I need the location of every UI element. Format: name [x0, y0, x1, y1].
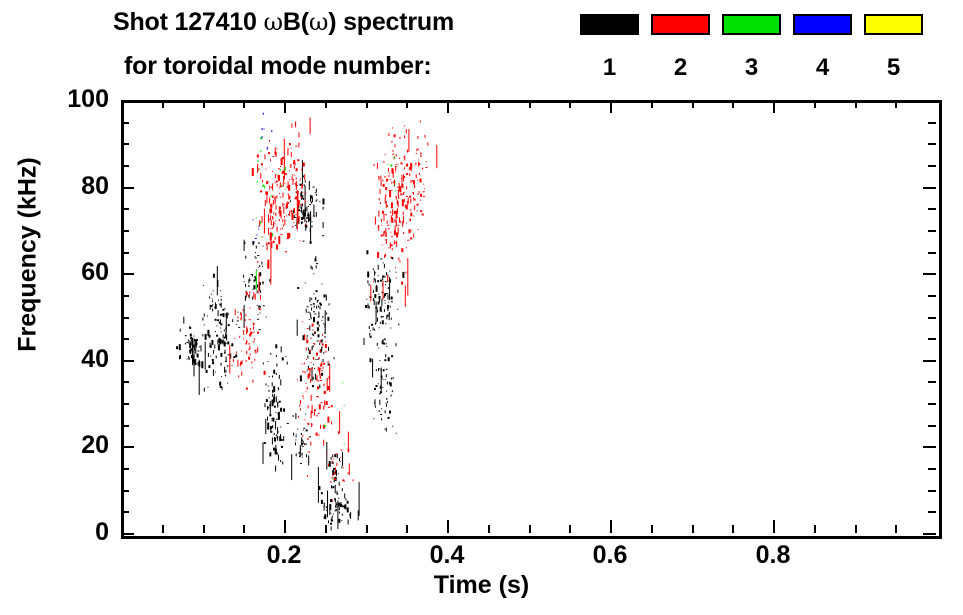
- x-tick-0.45: [488, 525, 490, 533]
- series-2-points: [229, 117, 437, 501]
- y-tick-right-90: [928, 143, 936, 145]
- x-tick-0.30: [366, 525, 368, 533]
- x-tick-top-0.95: [895, 100, 897, 108]
- x-axis-title: Time (s): [0, 571, 963, 600]
- x-tick-top-0.25: [325, 100, 327, 108]
- y-tick-right-80: [923, 187, 936, 189]
- x-tick-top-0.10: [203, 100, 205, 108]
- y-tick-25: [121, 425, 129, 427]
- y-tick-right-0: [923, 533, 936, 535]
- x-tick-top-0.05: [162, 100, 164, 108]
- y-tick-20: [121, 446, 134, 448]
- x-tick-0.15: [243, 525, 245, 533]
- x-tick-0.20: [284, 520, 286, 533]
- y-tick-45: [121, 338, 129, 340]
- x-tick-0.80: [773, 520, 775, 533]
- x-tick-top-0.50: [529, 100, 531, 108]
- series-1-points: [176, 160, 404, 530]
- x-tick-0.05: [162, 525, 164, 533]
- x-tick-top-0.85: [814, 100, 816, 108]
- y-tick-100: [121, 100, 134, 102]
- y-tick-5: [121, 511, 129, 513]
- y-tick-right-65: [928, 252, 936, 254]
- legend-label-mode-3: 3: [722, 54, 781, 82]
- y-tick-label-0: 0: [9, 518, 109, 547]
- x-tick-top-0.65: [651, 100, 653, 108]
- y-tick-right-5: [928, 511, 936, 513]
- y-tick-right-20: [923, 446, 936, 448]
- legend-swatch-mode-3: [722, 14, 781, 35]
- y-tick-70: [121, 230, 129, 232]
- x-tick-top-0.55: [569, 100, 571, 108]
- x-tick-0.50: [529, 525, 531, 533]
- chart-root: Shot 127410 ωB(ω) spectrum for toroidal …: [0, 0, 963, 615]
- x-tick-0.85: [814, 525, 816, 533]
- y-tick-right-35: [928, 381, 936, 383]
- y-tick-right-70: [928, 230, 936, 232]
- y-tick-right-40: [923, 360, 936, 362]
- legend-label-mode-1: 1: [580, 54, 639, 82]
- y-tick-right-95: [928, 122, 936, 124]
- x-tick-0.65: [651, 525, 653, 533]
- y-tick-label-100: 100: [9, 85, 109, 114]
- x-tick-0.90: [855, 525, 857, 533]
- y-tick-right-75: [928, 208, 936, 210]
- plot-area: [121, 100, 942, 539]
- legend-swatch-mode-1: [580, 14, 639, 35]
- x-tick-top-0.80: [773, 100, 775, 113]
- legend-swatch-mode-4: [793, 14, 852, 35]
- x-tick-top-0.60: [610, 100, 612, 113]
- y-tick-right-100: [923, 100, 936, 102]
- legend-label-mode-2: 2: [651, 54, 710, 82]
- x-tick-0.75: [732, 525, 734, 533]
- y-tick-60: [121, 273, 134, 275]
- y-tick-65: [121, 252, 129, 254]
- legend-swatch-mode-2: [651, 14, 710, 35]
- y-tick-15: [121, 468, 129, 470]
- y-tick-95: [121, 122, 129, 124]
- y-tick-30: [121, 403, 129, 405]
- y-tick-right-50: [928, 317, 936, 319]
- x-tick-top-0.35: [406, 100, 408, 108]
- x-tick-0.70: [692, 525, 694, 533]
- x-tick-top-0.15: [243, 100, 245, 108]
- x-tick-top-0.40: [447, 100, 449, 113]
- y-tick-right-60: [923, 273, 936, 275]
- legend-swatch-mode-5: [864, 14, 923, 35]
- legend: 12345: [0, 0, 963, 95]
- y-tick-label-20: 20: [9, 431, 109, 460]
- x-tick-0.95: [895, 525, 897, 533]
- x-tick-top-0.75: [732, 100, 734, 108]
- x-tick-top-0.70: [692, 100, 694, 108]
- y-tick-90: [121, 143, 129, 145]
- y-tick-50: [121, 317, 129, 319]
- spectrogram-canvas: [124, 103, 939, 536]
- y-tick-35: [121, 381, 129, 383]
- y-tick-right-55: [928, 295, 936, 297]
- series-3-points: [256, 137, 396, 479]
- y-tick-right-15: [928, 468, 936, 470]
- y-axis-title: Frequency (kHz): [14, 120, 43, 390]
- y-tick-75: [121, 208, 129, 210]
- y-tick-80: [121, 187, 134, 189]
- x-tick-0.55: [569, 525, 571, 533]
- y-tick-right-10: [928, 490, 936, 492]
- y-tick-55: [121, 295, 129, 297]
- x-tick-top-0.90: [855, 100, 857, 108]
- x-tick-label-0.6: 0.6: [550, 541, 670, 570]
- legend-label-mode-4: 4: [793, 54, 852, 82]
- x-tick-0.60: [610, 520, 612, 533]
- x-tick-0.40: [447, 520, 449, 533]
- x-tick-top-0.30: [366, 100, 368, 108]
- y-tick-right-45: [928, 338, 936, 340]
- x-tick-0.25: [325, 525, 327, 533]
- y-tick-10: [121, 490, 129, 492]
- x-tick-top-0.45: [488, 100, 490, 108]
- y-tick-right-30: [928, 403, 936, 405]
- y-tick-85: [121, 165, 129, 167]
- y-tick-40: [121, 360, 134, 362]
- x-tick-0.35: [406, 525, 408, 533]
- series-4-points: [253, 113, 273, 243]
- x-tick-label-0.8: 0.8: [713, 541, 833, 570]
- x-tick-label-0.2: 0.2: [224, 541, 344, 570]
- x-tick-label-0.4: 0.4: [387, 541, 507, 570]
- y-tick-right-25: [928, 425, 936, 427]
- x-tick-0.10: [203, 525, 205, 533]
- y-tick-0: [121, 533, 134, 535]
- y-tick-right-85: [928, 165, 936, 167]
- legend-label-mode-5: 5: [864, 54, 923, 82]
- x-tick-top-0.20: [284, 100, 286, 113]
